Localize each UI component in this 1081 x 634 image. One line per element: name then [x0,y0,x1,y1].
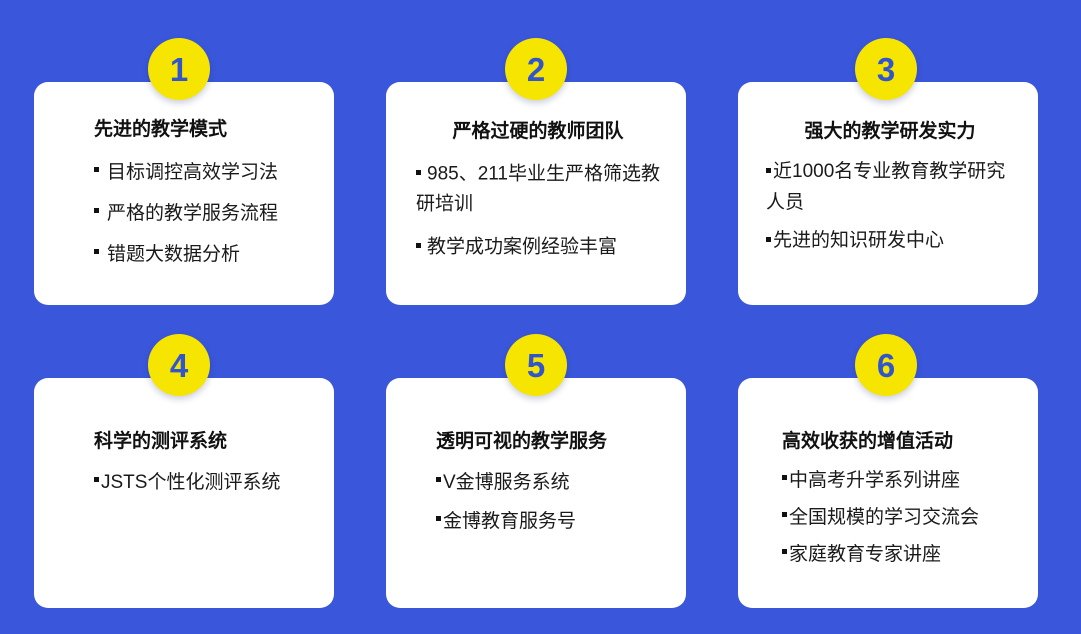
badge-number-2: 2 [505,38,567,100]
list-item-label: 金博教育服务号 [443,511,576,532]
feature-card-1-title: 先进的教学模式 [94,114,312,141]
list-item: 教学成功案例经验丰富 [416,232,664,262]
badge-number-6-label: 6 [877,349,895,382]
list-item: 985、211毕业生严格筛选教研培训 [416,159,664,218]
feature-card-5-body: 透明可视的教学服务 V金博服务系统 金博教育服务号 [408,378,664,533]
list-item: 全国规模的学习交流会 [782,502,1016,529]
feature-card-1-body: 先进的教学模式 目标调控高效学习法 严格的教学服务流程 错题大数据分析 [56,82,312,266]
list-item-label: 家庭教育专家讲座 [789,544,941,565]
badge-number-1: 1 [148,38,210,100]
feature-card-2[interactable]: 2 严格过硬的教师团队 985、211毕业生严格筛选教研培训 教学成功案例经验丰… [386,82,686,305]
list-item-label: 教学成功案例经验丰富 [427,237,617,258]
badge-number-5: 5 [505,334,567,396]
bullet-square-icon [416,243,421,248]
feature-card-grid: 1 先进的教学模式 目标调控高效学习法 严格的教学服务流程 错题大数据分析 2 … [34,82,1038,608]
list-item-label: 严格的教学服务流程 [107,203,278,224]
bullet-square-icon [782,549,787,554]
list-item-label: 近1000名专业教育教学研究人员 [766,161,1005,213]
features-board: 1 先进的教学模式 目标调控高效学习法 严格的教学服务流程 错题大数据分析 2 … [0,0,1081,634]
feature-card-2-bullets: 985、211毕业生严格筛选教研培训 教学成功案例经验丰富 [416,159,664,262]
list-item: 先进的知识研发中心 [766,226,1016,257]
feature-card-5-title: 透明可视的教学服务 [436,426,664,453]
list-item: 中高考升学系列讲座 [782,465,1016,492]
badge-number-2-label: 2 [527,53,545,86]
feature-card-4-title: 科学的测评系统 [94,426,312,453]
feature-card-2-title: 严格过硬的教师团队 [416,116,664,143]
feature-card-3-title: 强大的教学研发实力 [766,116,1016,143]
feature-card-4[interactable]: 4 科学的测评系统 JSTS个性化测评系统 [34,378,334,608]
list-item-label: 985、211毕业生严格筛选教研培训 [416,163,660,214]
bullet-square-icon [94,208,99,213]
list-item-label: V金博服务系统 [443,472,570,493]
feature-card-6-body: 高效收获的增值活动 中高考升学系列讲座 全国规模的学习交流会 家庭教育专家讲座 [760,378,1016,566]
feature-card-1[interactable]: 1 先进的教学模式 目标调控高效学习法 严格的教学服务流程 错题大数据分析 [34,82,334,305]
list-item-label: 先进的知识研发中心 [773,230,944,251]
feature-card-5[interactable]: 5 透明可视的教学服务 V金博服务系统 金博教育服务号 [386,378,686,608]
list-item-label: 全国规模的学习交流会 [789,507,979,528]
bullet-square-icon [94,249,99,254]
badge-number-1-label: 1 [170,53,188,86]
feature-card-3-body: 强大的教学研发实力 近1000名专业教育教学研究人员 先进的知识研发中心 [760,82,1016,257]
bullet-square-icon [94,477,99,482]
list-item-label: 目标调控高效学习法 [107,162,278,183]
bullet-square-icon [766,168,771,173]
bullet-square-icon [416,170,421,175]
feature-card-3-bullets: 近1000名专业教育教学研究人员 先进的知识研发中心 [766,157,1016,257]
feature-card-6-title: 高效收获的增值活动 [782,426,1016,453]
badge-number-5-label: 5 [527,349,545,382]
feature-card-2-body: 严格过硬的教师团队 985、211毕业生严格筛选教研培训 教学成功案例经验丰富 [408,82,664,262]
feature-card-6[interactable]: 6 高效收获的增值活动 中高考升学系列讲座 全国规模的学习交流会 家庭教育专家讲… [738,378,1038,608]
feature-card-6-bullets: 中高考升学系列讲座 全国规模的学习交流会 家庭教育专家讲座 [782,465,1016,566]
bullet-square-icon [766,237,771,242]
feature-card-1-bullets: 目标调控高效学习法 严格的教学服务流程 错题大数据分析 [94,157,312,266]
badge-number-3-label: 3 [877,53,895,86]
list-item: JSTS个性化测评系统 [94,467,312,494]
list-item: 目标调控高效学习法 [94,157,312,184]
list-item: 金博教育服务号 [436,506,664,533]
list-item: 家庭教育专家讲座 [782,539,1016,566]
list-item-label: 中高考升学系列讲座 [789,470,960,491]
list-item: 严格的教学服务流程 [94,198,312,225]
bullet-square-icon [94,167,99,172]
badge-number-6: 6 [855,334,917,396]
list-item-label: JSTS个性化测评系统 [101,472,280,493]
badge-number-3: 3 [855,38,917,100]
bullet-square-icon [782,512,787,517]
feature-card-3[interactable]: 3 强大的教学研发实力 近1000名专业教育教学研究人员 先进的知识研发中心 [738,82,1038,305]
bullet-square-icon [782,475,787,480]
list-item: V金博服务系统 [436,467,664,494]
feature-card-4-bullets: JSTS个性化测评系统 [94,467,312,494]
list-item: 错题大数据分析 [94,239,312,266]
bullet-square-icon [436,477,441,482]
bullet-square-icon [436,516,441,521]
list-item: 近1000名专业教育教学研究人员 [766,157,1016,218]
badge-number-4: 4 [148,334,210,396]
badge-number-4-label: 4 [170,349,188,382]
feature-card-5-bullets: V金博服务系统 金博教育服务号 [436,467,664,533]
list-item-label: 错题大数据分析 [107,244,240,265]
